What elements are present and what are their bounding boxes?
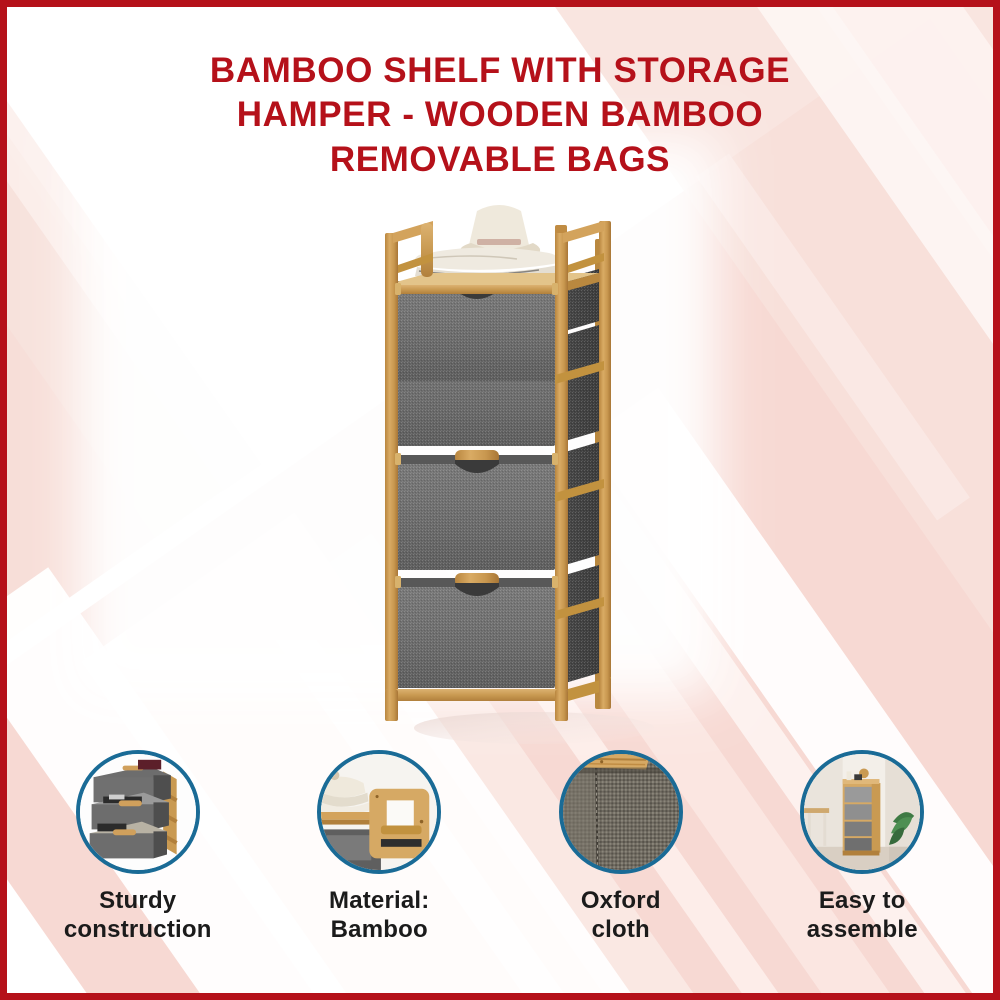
product-listing-image: BAMBOO SHELF WITH STORAGE HAMPER - WOODE… [0, 0, 1000, 1000]
feature-label-line: Oxford [581, 887, 661, 916]
feature-label-line: Material: [329, 887, 430, 916]
page-title: BAMBOO SHELF WITH STORAGE HAMPER - WOODE… [7, 49, 993, 182]
room-scene-shelf-icon [800, 750, 924, 874]
page-title-line-1: BAMBOO SHELF WITH STORAGE [7, 49, 993, 93]
feature-label-line: assemble [807, 916, 918, 945]
bamboo-frame-closeup-icon [317, 750, 441, 874]
feature-label-line: construction [64, 916, 212, 945]
feature-label-line: Bamboo [329, 916, 430, 945]
drawer [397, 442, 599, 570]
feature-label-line: cloth [581, 916, 661, 945]
oxford-cloth-texture-icon [559, 750, 683, 874]
feature-item-sturdy-construction: Sturdy construction [17, 750, 259, 965]
hero-product-image [359, 203, 659, 748]
stacked-drawers-icon [76, 750, 200, 874]
feature-label-line: Easy to [807, 887, 918, 916]
feature-item-easy-to-assemble: Easy to assemble [742, 750, 984, 965]
feature-item-material-bamboo: Material: Bamboo [259, 750, 501, 965]
feature-item-oxford-cloth: Oxford cloth [500, 750, 742, 965]
feature-label: Sturdy construction [64, 887, 212, 945]
feature-label-line: Sturdy [64, 887, 212, 916]
drawer [397, 565, 599, 688]
page-title-line-3: REMOVABLE BAGS [7, 138, 993, 182]
feature-label: Easy to assemble [807, 887, 918, 945]
feature-label: Material: Bamboo [329, 887, 430, 945]
feature-list: Sturdy construction [17, 750, 983, 965]
feature-label: Oxford cloth [581, 887, 661, 945]
page-title-line-2: HAMPER - WOODEN BAMBOO [7, 93, 993, 137]
